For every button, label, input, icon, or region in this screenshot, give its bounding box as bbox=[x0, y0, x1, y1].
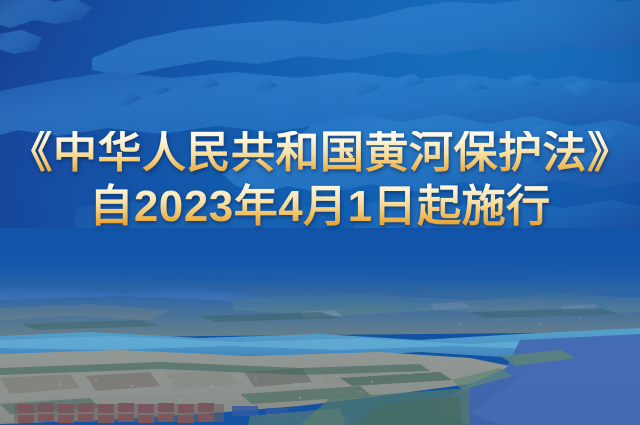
river-landscape-illustration bbox=[0, 228, 640, 425]
aerial-river-photograph bbox=[0, 228, 640, 425]
poster-container: 《中华人民共和国黄河保护法》 自2023年4月1日起施行 bbox=[0, 0, 640, 425]
village-cluster bbox=[14, 403, 288, 423]
world-map-silhouette-icon bbox=[0, 0, 640, 244]
